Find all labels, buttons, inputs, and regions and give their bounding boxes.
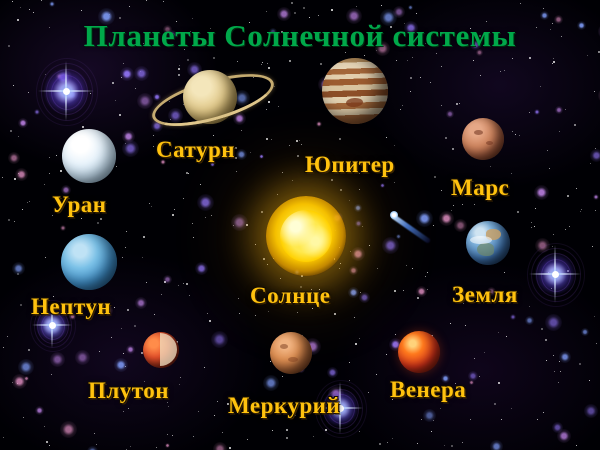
planet-uranus[interactable] <box>62 129 116 183</box>
mars-surface-marking <box>486 141 493 145</box>
mercury-crater <box>280 344 288 349</box>
comet-icon <box>391 213 432 243</box>
label-earth: Земля <box>452 282 518 308</box>
solar-system-slide: Планеты Солнечной системы Солнце Сатурн … <box>0 0 600 450</box>
planet-venus[interactable] <box>398 331 440 373</box>
label-pluto: Плутон <box>88 378 169 404</box>
starburst-icon <box>36 58 96 124</box>
planet-sun[interactable] <box>266 196 346 276</box>
planet-jupiter[interactable] <box>322 58 388 124</box>
label-mars: Марс <box>451 175 509 201</box>
label-uranus: Уран <box>52 192 107 218</box>
earth-landmass <box>477 243 494 256</box>
label-saturn: Сатурн <box>156 137 235 163</box>
label-jupiter: Юпитер <box>305 152 395 178</box>
planet-mercury[interactable] <box>270 332 312 374</box>
planet-mars[interactable] <box>462 118 504 160</box>
earth-cloud <box>470 236 492 244</box>
label-venus: Венера <box>390 377 466 403</box>
page-title: Планеты Солнечной системы <box>0 18 600 54</box>
label-neptune: Нептун <box>31 294 111 320</box>
nebula-glow <box>0 250 270 450</box>
planet-neptune[interactable] <box>61 234 117 290</box>
starburst-icon <box>527 243 583 305</box>
label-mercury: Меркурий <box>228 393 340 419</box>
comet-head-icon <box>390 211 398 219</box>
label-sun: Солнце <box>250 283 330 309</box>
mars-surface-marking <box>474 130 483 135</box>
mercury-crater <box>288 357 298 362</box>
